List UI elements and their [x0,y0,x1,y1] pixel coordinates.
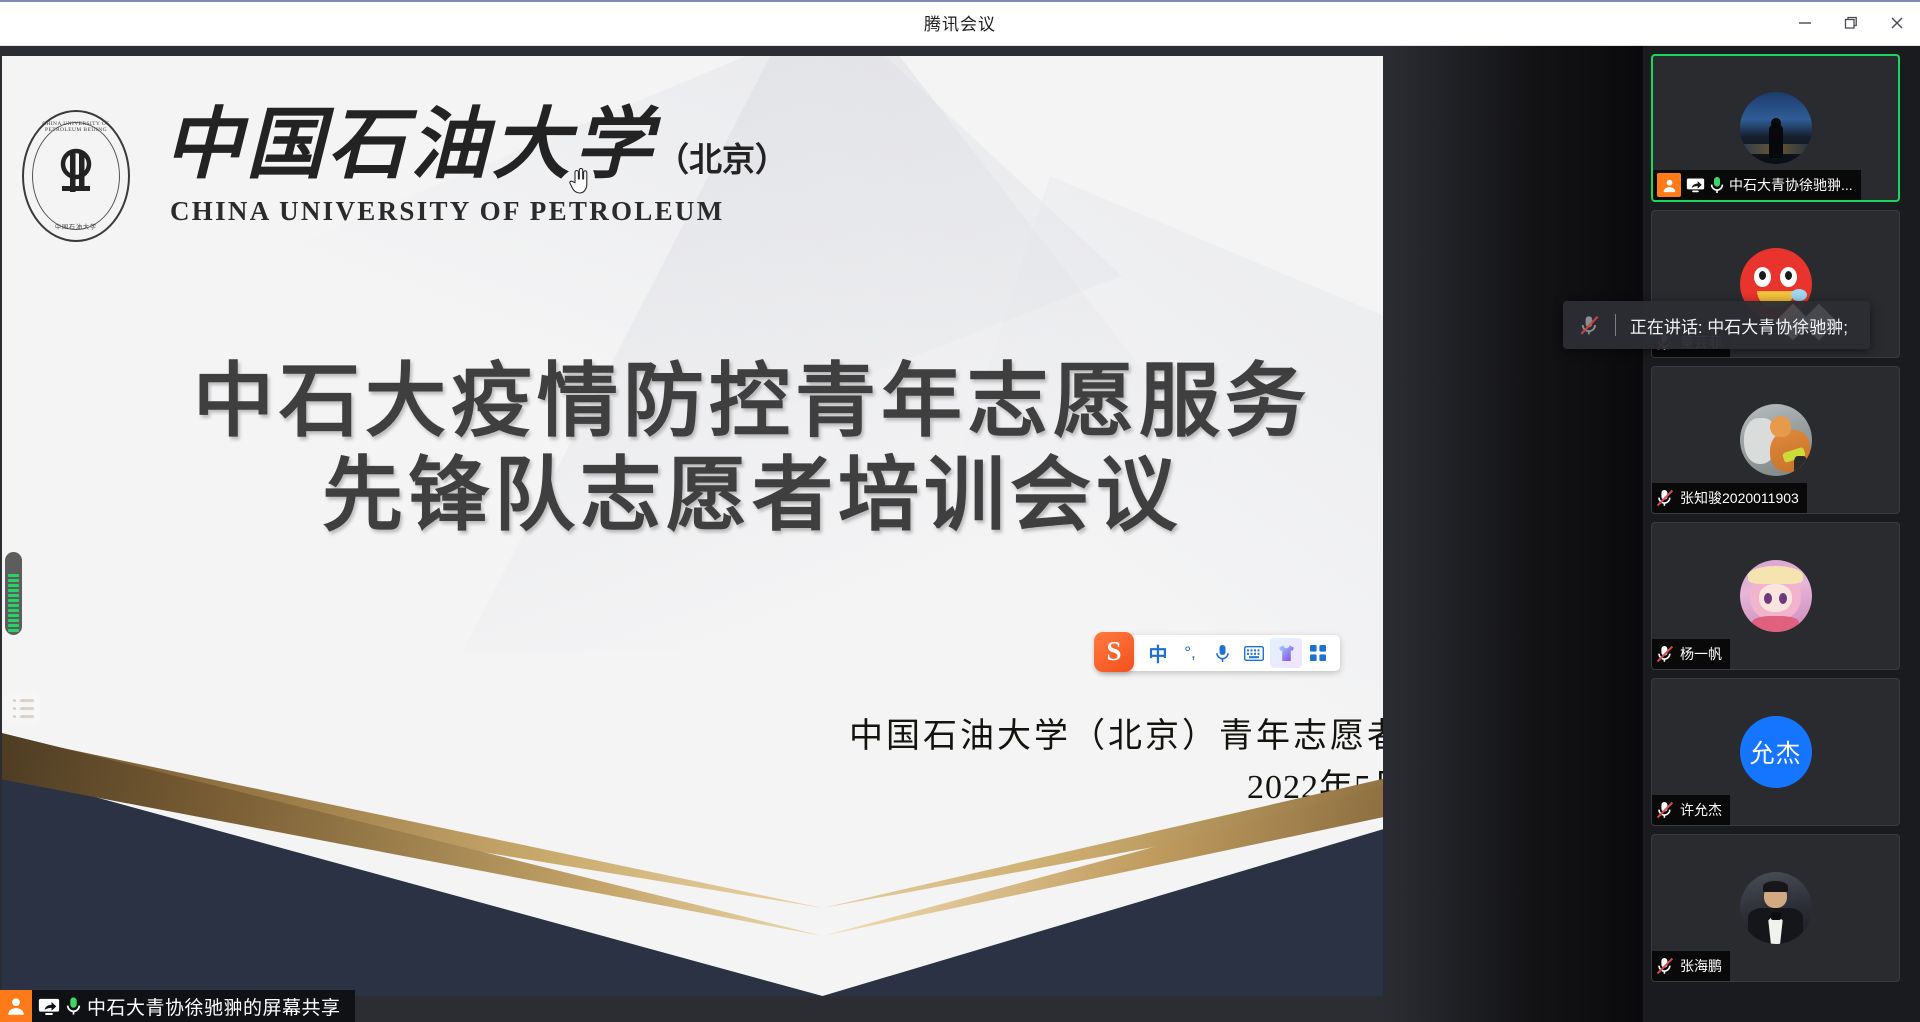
sogou-ime-toolbar[interactable]: S 中 °, [1100,635,1340,671]
university-seal-icon: CHINA UNIVERSITY OF PETROLEUM BEIJING 中国… [22,110,130,242]
participant-tile[interactable]: 张知骏2020011903 [1651,366,1900,514]
mic-muted-icon [1579,314,1601,336]
meeting-stage: CHINA UNIVERSITY OF PETROLEUM BEIJING 中国… [0,46,1920,1022]
anime-girl-avatar-icon [1740,560,1812,632]
soft-keyboard-icon[interactable] [1238,638,1270,668]
active-speaker-toast: 正在讲话: 中石大青协徐驰翀; [1563,301,1870,349]
participant-panel[interactable]: 中石大青协徐驰翀... [1643,46,1920,1022]
participant-name: 许允杰 [1680,800,1722,820]
participant-name: 中石大青协徐驰翀... [1729,175,1853,195]
screen-share-status-label: 中石大青协徐驰翀的屏幕共享 [87,993,341,1020]
shiba-inu-avatar-icon [1740,404,1812,476]
titlebar-accent-line [0,0,1920,2]
participant-tile[interactable]: 张海鹏 [1651,834,1900,982]
audio-level-meter[interactable] [5,552,22,635]
man-in-tuxedo-avatar-icon [1740,872,1812,944]
punctuation-mode-button[interactable]: °, [1174,638,1206,668]
input-mode-chinese-button[interactable]: 中 [1142,638,1174,668]
mic-muted-icon [1656,489,1675,507]
university-name-cn-paren: （北京） [656,143,788,179]
university-name-cn: 中国石油大学（北京） [164,106,788,184]
tencent-meeting-window: 腾讯会议 [0,0,1920,1022]
voice-input-icon[interactable] [1206,638,1238,668]
participant-name-bar: 张知骏2020011903 [1652,483,1807,513]
seal-ring-bottom-text: 中国石油大学 [24,222,128,231]
avatar [1740,404,1812,476]
toast-divider [1615,314,1616,336]
university-name-block: 中国石油大学（北京） CHINA UNIVERSITY OF PETROLEUM [164,106,788,227]
shared-screen-frame: CHINA UNIVERSITY OF PETROLEUM BEIJING 中国… [0,46,1643,1022]
participant-tile[interactable]: 杨一帆 [1651,522,1900,670]
slide-subtitle-org: 中国石油大学（北京）青年志愿者协会 [2,711,1478,762]
avatar: 允杰 [1740,716,1812,788]
minimize-button[interactable] [1782,0,1828,46]
slide-title: 中石大疫情防控青年志愿服务 先锋队志愿者培训会议 [2,356,1502,544]
participant-tile[interactable]: 允杰 许允杰 [1651,678,1900,826]
initials-avatar-icon: 允杰 [1740,716,1812,788]
screen-share-icon [1686,177,1705,193]
presentation-slide: CHINA UNIVERSITY OF PETROLEUM BEIJING 中国… [2,56,1643,996]
title-bar: 腾讯会议 [0,0,1920,46]
night-sky-silhouette-avatar-icon [1740,92,1812,164]
maximize-button[interactable] [1828,0,1874,46]
seal-ring-top-text: CHINA UNIVERSITY OF PETROLEUM BEIJING [24,121,128,133]
participant-name: 张知骏2020011903 [1680,488,1799,508]
participant-name-bar: 杨一帆 [1652,639,1730,669]
sogou-logo-icon[interactable]: S [1094,632,1134,672]
avatar [1740,560,1812,632]
university-name-en: CHINA UNIVERSITY OF PETROLEUM [170,196,788,227]
mic-on-icon [66,996,81,1016]
mic-muted-icon [1656,645,1675,663]
presenter-menu-icon[interactable] [7,692,40,725]
person-icon [0,990,32,1022]
toolbox-icon[interactable] [1302,638,1334,668]
participant-name: 杨一帆 [1680,644,1722,664]
watermark-icon [1762,301,1852,349]
participant-name-bar: 中石大青协徐驰翀... [1653,170,1861,200]
avatar [1740,92,1812,164]
skin-icon[interactable] [1270,638,1302,668]
screen-share-icon [38,997,60,1016]
window-title: 腾讯会议 [924,10,996,35]
host-badge-icon [1657,173,1681,197]
university-logo: CHINA UNIVERSITY OF PETROLEUM BEIJING 中国… [22,106,788,242]
participant-name-bar: 张海鹏 [1652,951,1730,981]
mic-muted-icon [1656,957,1675,975]
participant-name-bar: 许允杰 [1652,795,1730,825]
mic-on-icon [1710,176,1724,194]
mouse-cursor-hand-icon [568,168,590,194]
participant-name: 张海鹏 [1680,956,1722,976]
seal-monogram [46,142,106,210]
slide-title-line2: 先锋队志愿者培训会议 [2,450,1502,544]
avatar [1740,872,1812,944]
screen-share-status-bar: 中石大青协徐驰翀的屏幕共享 [0,990,355,1022]
close-button[interactable] [1874,0,1920,46]
slide-title-line1: 中石大疫情防控青年志愿服务 [2,356,1502,450]
participant-tile[interactable]: 中石大青协徐驰翀... [1651,54,1900,202]
window-controls [1782,0,1920,46]
mic-muted-icon [1656,801,1675,819]
